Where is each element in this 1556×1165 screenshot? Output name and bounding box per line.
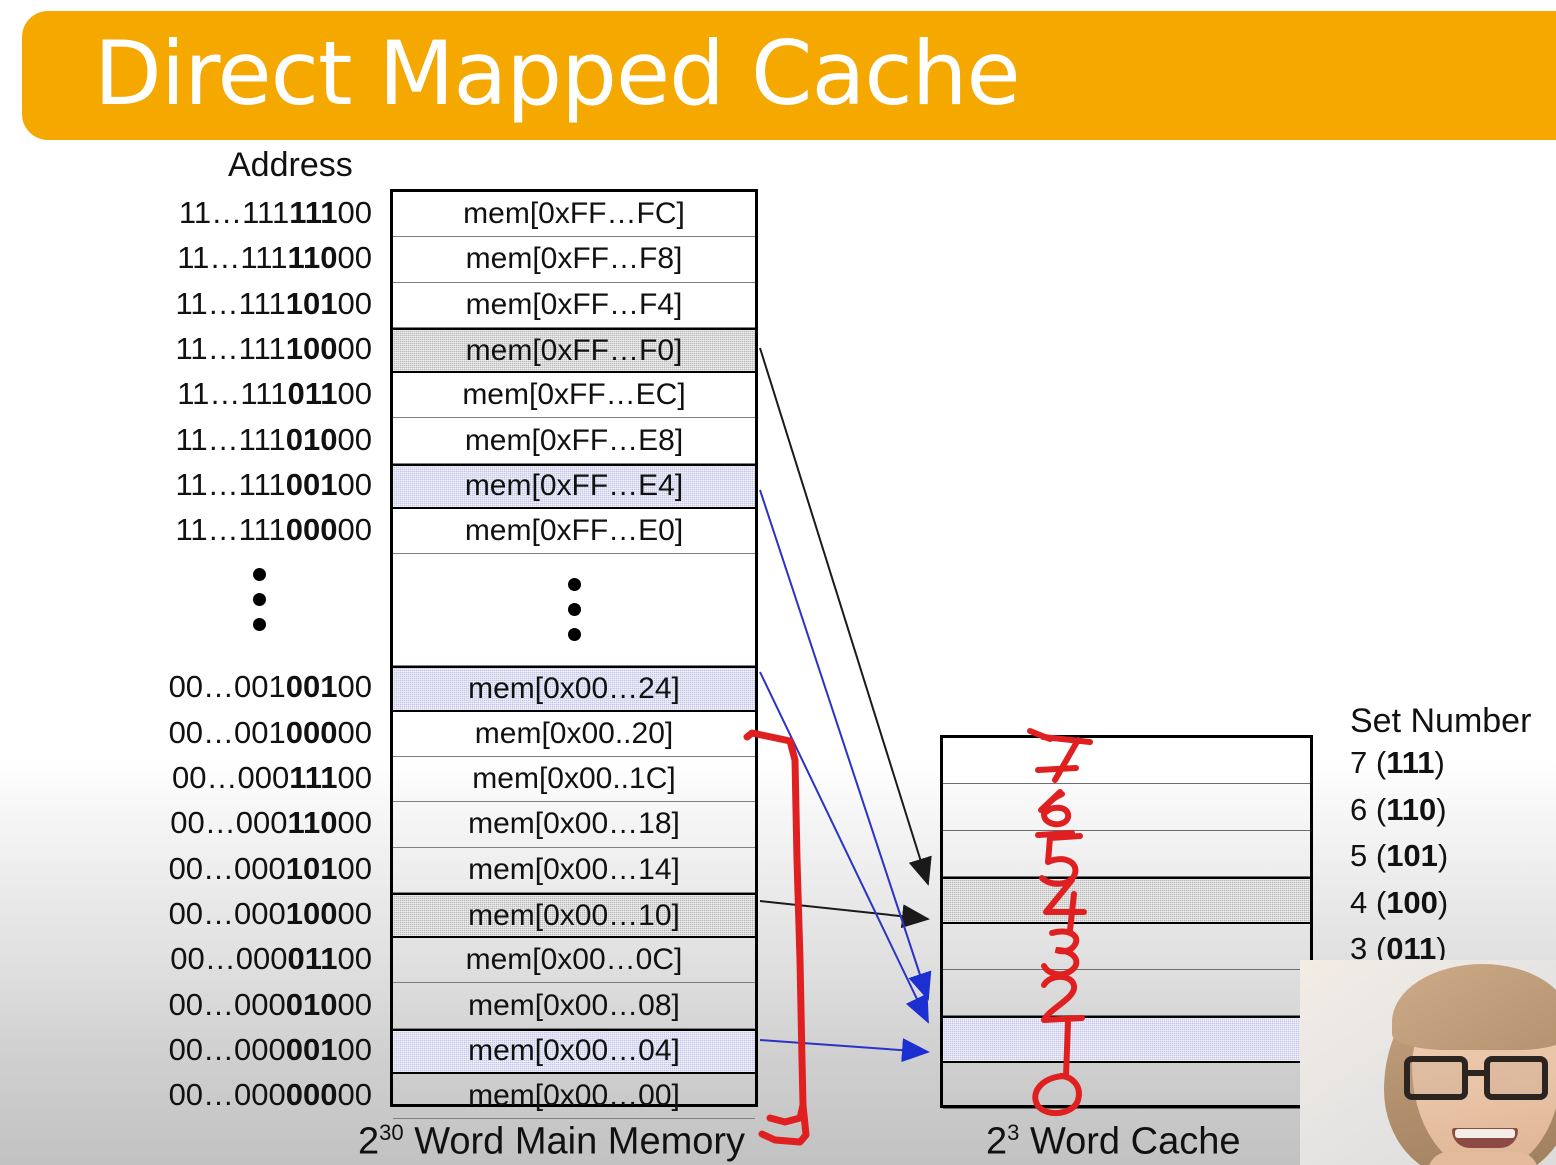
set-number-binary: 100 (1386, 885, 1438, 920)
glasses-left-lens (1404, 1056, 1468, 1100)
dot-icon (568, 628, 581, 641)
address-prefix: 00…000 (169, 1077, 286, 1112)
arrow-mem00-24-to-set1 (760, 672, 928, 1022)
address-prefix: 11…111 (177, 240, 287, 275)
memory-cell: mem[0x00..20] (393, 712, 755, 757)
memory-cell-label: mem[0x00…10] (468, 899, 680, 933)
memory-cell-label: mem[0x00…04] (468, 1034, 680, 1068)
address-prefix: 11…111 (175, 331, 285, 366)
address-prefix: 11…111 (175, 422, 285, 457)
address-offset-bits: 00 (338, 331, 372, 366)
main-memory-caption-base: 2 (358, 1121, 379, 1163)
address-set-bits: 001 (286, 669, 338, 704)
dot-icon (253, 593, 266, 606)
cache-set-row (943, 877, 1310, 923)
address-prefix: 00…000 (170, 805, 287, 840)
memory-cell: mem[0xFF…F4] (393, 283, 755, 328)
memory-cell: mem[0xFF…FC] (393, 192, 755, 237)
set-number-close-paren: ) (1435, 745, 1445, 780)
set-number-row: 4 (100) (1350, 880, 1448, 926)
address-row: 11…11111100 (0, 190, 372, 235)
address-set-bits: 000 (286, 512, 338, 547)
memory-cell: mem[0xFF…F8] (393, 237, 755, 282)
address-prefix: 11…111 (177, 376, 287, 411)
memory-cell: mem[0xFF…F0] (393, 328, 755, 373)
presenter-webcam-overlay[interactable] (1300, 960, 1556, 1165)
memory-ellipsis-gap (393, 554, 755, 666)
dot-icon (253, 618, 266, 631)
address-row: 00…00010000 (0, 891, 372, 936)
address-prefix: 11…111 (175, 467, 285, 502)
memory-cell-label: mem[0x00…00] (468, 1079, 680, 1113)
address-set-bits: 001 (286, 1032, 338, 1067)
arrow-mem00-04-to-set1 (760, 1040, 928, 1052)
page-title: Direct Mapped Cache (94, 30, 1020, 118)
address-set-bits: 111 (289, 195, 337, 230)
address-offset-bits: 00 (338, 1077, 372, 1112)
set-number-header: Set Number (1350, 702, 1531, 741)
set-number-binary: 110 (1386, 792, 1436, 827)
memory-cell: mem[0x00…24] (393, 666, 755, 711)
address-offset-bits: 00 (338, 467, 372, 502)
set-number-decimal: 7 ( (1350, 745, 1386, 780)
memory-cell: mem[0xFF…E4] (393, 464, 755, 509)
cache-set-row (943, 924, 1310, 970)
main-memory-caption: 230 Word Main Memory (358, 1120, 745, 1164)
memory-cell: mem[0xFF…EC] (393, 373, 755, 418)
address-ellipsis-dots (240, 562, 278, 637)
memory-cell: mem[0x00…04] (393, 1029, 755, 1074)
glasses-bridge (1466, 1070, 1486, 1076)
memory-cell: mem[0x00…0C] (393, 938, 755, 983)
address-offset-bits: 00 (338, 715, 372, 750)
address-row: 00…00010100 (0, 846, 372, 891)
presenter-neck (1428, 1152, 1538, 1165)
address-row: 00…00001000 (0, 982, 372, 1027)
glasses-icon (1404, 1056, 1556, 1102)
presenter-teeth (1455, 1129, 1515, 1138)
arrow-memff-e4-to-set1 (760, 490, 928, 999)
address-set-bits: 010 (286, 987, 338, 1022)
cache-set-row (943, 1016, 1310, 1062)
address-column-header: Address (228, 146, 353, 185)
cache-caption-text: Word Cache (1019, 1121, 1240, 1163)
memory-cell-label: mem[0x00..20] (475, 717, 673, 751)
address-set-bits: 110 (288, 240, 338, 275)
set-number-decimal: 4 ( (1350, 885, 1386, 920)
memory-cell-label: mem[0x00…18] (468, 807, 680, 841)
address-prefix: 00…000 (169, 851, 286, 886)
address-prefix: 00…001 (169, 669, 286, 704)
main-memory-caption-exponent: 30 (379, 1120, 404, 1145)
address-prefix: 00…000 (169, 987, 286, 1022)
address-offset-bits: 00 (338, 760, 372, 795)
memory-cell: mem[0x00…14] (393, 848, 755, 893)
address-prefix: 00…000 (172, 760, 289, 795)
set-number-decimal: 6 ( (1350, 792, 1386, 827)
address-offset-bits: 00 (338, 896, 372, 931)
memory-cell-label: mem[0xFF…E0] (465, 514, 683, 548)
address-set-bits: 000 (286, 715, 338, 750)
address-offset-bits: 00 (338, 1032, 372, 1067)
address-offset-bits: 00 (338, 851, 372, 886)
address-offset-bits: 00 (338, 669, 372, 704)
address-prefix: 11…111 (179, 195, 289, 230)
address-set-bits: 110 (288, 805, 338, 840)
dot-icon (568, 603, 581, 616)
presenter-mouth (1452, 1128, 1518, 1148)
memory-cell-label: mem[0xFF…FC] (463, 197, 685, 231)
main-memory-caption-text: Word Main Memory (404, 1121, 745, 1163)
address-row: 00…00000000 (0, 1072, 372, 1117)
address-row: 00…00001100 (0, 936, 372, 981)
memory-cell-label: mem[0xFF…EC] (462, 378, 685, 412)
memory-cell-label: mem[0x00…14] (468, 853, 680, 887)
address-set-bits: 100 (286, 896, 338, 931)
address-set-bits: 111 (289, 760, 337, 795)
arrow-memff-f0-to-set4 (760, 348, 928, 884)
main-memory-table: mem[0xFF…FC]mem[0xFF…F8]mem[0xFF…F4]mem[… (390, 189, 758, 1107)
set-number-row: 5 (101) (1350, 833, 1448, 879)
memory-cell-label: mem[0xFF…E8] (465, 424, 683, 458)
memory-cell: mem[0x00…08] (393, 984, 755, 1029)
memory-cell-label: mem[0xFF…E4] (465, 469, 683, 503)
memory-cell: mem[0xFF…E0] (393, 509, 755, 554)
slide-title-banner: Direct Mapped Cache (22, 11, 1556, 140)
address-offset-bits: 00 (338, 286, 372, 321)
set-number-close-paren: ) (1436, 792, 1446, 827)
address-set-bits: 010 (286, 422, 338, 457)
memory-cell-label: mem[0xFF…F0] (466, 334, 683, 368)
set-number-decimal: 5 ( (1350, 838, 1386, 873)
memory-cell: mem[0x00…18] (393, 802, 755, 847)
cache-set-row (943, 784, 1310, 830)
address-offset-bits: 00 (338, 987, 372, 1022)
address-row: 00…00011100 (0, 755, 372, 800)
address-offset-bits: 00 (338, 195, 372, 230)
address-row: 11…11100000 (0, 507, 372, 552)
memory-cell-label: mem[0x00…24] (468, 672, 680, 706)
address-prefix: 11…111 (175, 286, 285, 321)
address-row: 11…11101000 (0, 417, 372, 462)
memory-cell-label: mem[0xFF…F8] (466, 242, 683, 276)
address-row: 11…11111000 (0, 235, 372, 280)
set-number-close-paren: ) (1438, 885, 1448, 920)
address-set-bits: 000 (286, 1077, 338, 1112)
address-set-bits: 011 (288, 941, 338, 976)
memory-cell-label: mem[0xFF…F4] (466, 288, 683, 322)
address-prefix: 00…000 (169, 1032, 286, 1067)
memory-cell: mem[0xFF…E8] (393, 419, 755, 464)
cache-set-row (943, 970, 1310, 1016)
set-number-row: 6 (110) (1350, 787, 1447, 833)
address-row: 11…11101100 (0, 371, 372, 416)
address-set-bits: 101 (286, 286, 338, 321)
set-number-binary: 101 (1386, 838, 1438, 873)
memory-cell-label: mem[0x00..1C] (472, 762, 675, 796)
memory-cell-label: mem[0x00…0C] (466, 943, 683, 977)
address-prefix: 11…111 (175, 512, 285, 547)
address-offset-bits: 00 (338, 805, 372, 840)
address-row: 11…11100100 (0, 462, 372, 507)
address-row: 00…00011000 (0, 800, 372, 845)
address-set-bits: 100 (286, 331, 338, 366)
set-number-row: 7 (111) (1350, 740, 1445, 786)
address-prefix: 00…001 (169, 715, 286, 750)
memory-cell: mem[0x00…00] (393, 1074, 755, 1119)
dot-icon (253, 568, 266, 581)
arrow-mem00-10-to-set4 (760, 901, 928, 919)
address-row: 00…00000100 (0, 1027, 372, 1072)
memory-cell: mem[0x00..1C] (393, 757, 755, 802)
dot-icon (568, 578, 581, 591)
address-row: 11…11110100 (0, 281, 372, 326)
set-number-binary: 111 (1386, 745, 1434, 780)
address-offset-bits: 00 (338, 941, 372, 976)
slide-canvas: Direct Mapped Cache Address 11…111111001… (0, 0, 1556, 1165)
cache-caption: 23 Word Cache (986, 1120, 1240, 1164)
glasses-right-lens (1484, 1056, 1548, 1100)
address-offset-bits: 00 (338, 376, 372, 411)
address-set-bits: 001 (286, 467, 338, 502)
address-prefix: 00…000 (170, 941, 287, 976)
address-prefix: 00…000 (169, 896, 286, 931)
cache-set-row (943, 1063, 1310, 1109)
memory-cell-label: mem[0x00…08] (468, 989, 680, 1023)
address-offset-bits: 00 (338, 512, 372, 547)
set-number-close-paren: ) (1438, 838, 1448, 873)
cache-caption-base: 2 (986, 1121, 1007, 1163)
address-offset-bits: 00 (338, 240, 372, 275)
cache-set-row (943, 831, 1310, 877)
cache-caption-exponent: 3 (1007, 1120, 1019, 1145)
address-row: 11…11110000 (0, 326, 372, 371)
address-offset-bits: 00 (338, 422, 372, 457)
memory-cell: mem[0x00…10] (393, 893, 755, 938)
cache-table (940, 735, 1313, 1108)
cache-set-row (943, 738, 1310, 784)
address-row: 00…00100000 (0, 710, 372, 755)
address-row: 00…00100100 (0, 664, 372, 709)
address-set-bits: 011 (288, 376, 338, 411)
address-set-bits: 101 (286, 851, 338, 886)
